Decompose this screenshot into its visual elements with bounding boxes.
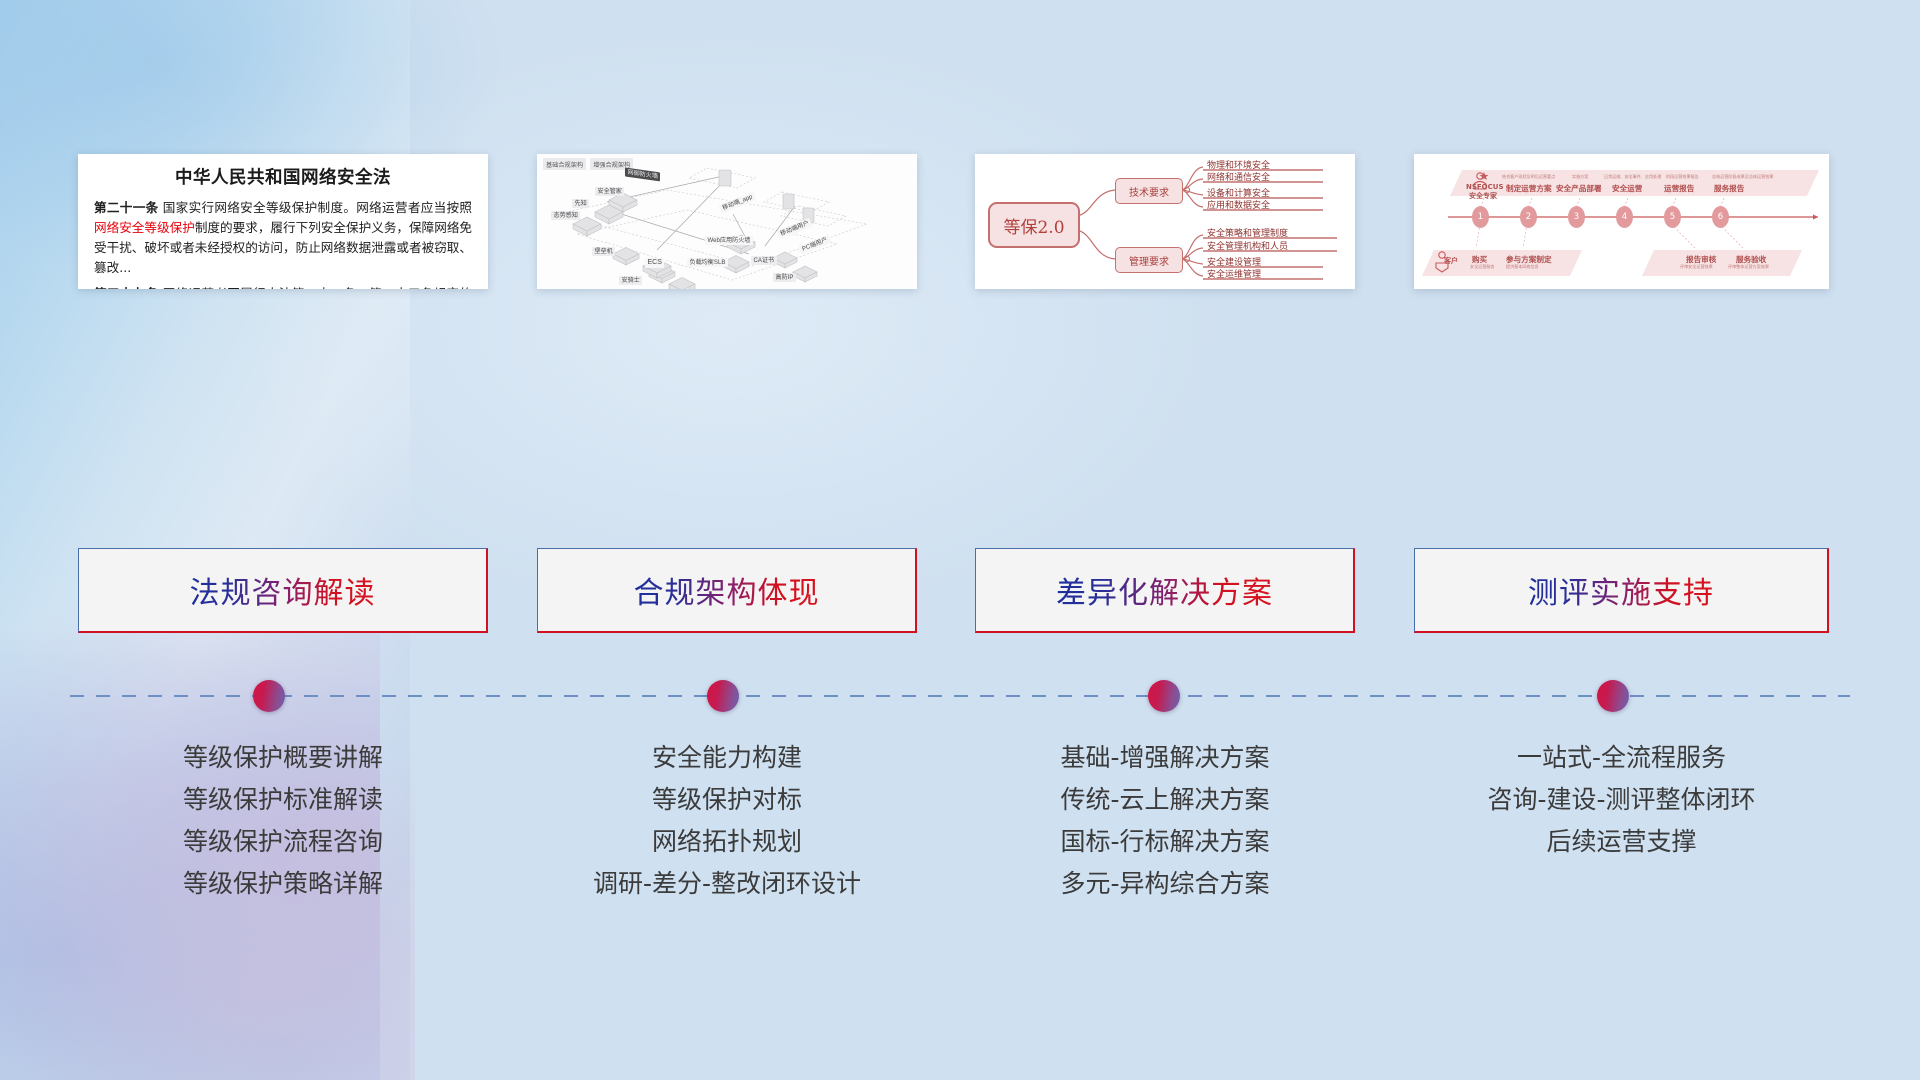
mindmap-leaf: 安全管理机构和人员 (1207, 239, 1288, 252)
arch-node-slb: 负载均衡SLB (687, 258, 728, 267)
timeline-dashed-line (70, 695, 1850, 697)
list-regulation-consulting: 等级保护概要讲解 等级保护标准解读 等级保护流程咨询 等级保护策略详解 (78, 737, 488, 905)
title-text: 合规架构体现 (634, 568, 820, 612)
list-item: 网络拓扑规划 (537, 821, 917, 863)
roadmap-canvas: NSFOCUS 安全专家 客户 结合客户现状及明后运营要点 制定运营方案 实施方… (1414, 154, 1829, 289)
arch-node-situational-awareness: 态势感知 (551, 211, 580, 220)
arch-node-xianzhi: 先知 (572, 199, 589, 208)
roadmap-bottom-note: 评审整体运营方案效果 (1728, 264, 1769, 270)
roadmap-bottom-note: 安全运营服务 (1470, 264, 1495, 270)
title-box-evaluation-support[interactable]: 测评实施支持 (1414, 548, 1829, 633)
title-text: 差异化解决方案 (1056, 568, 1273, 612)
roadmap-step-number: 6 (1712, 206, 1729, 228)
list-item: 咨询-建设-测评整体闭环 (1414, 779, 1829, 821)
roadmap-top-note: 实施方案 (1572, 174, 1588, 180)
law-article-label: 第二十一条 (94, 200, 158, 215)
thumbnail-architecture-diagram[interactable]: 基础合规架构 增强合规架构 (537, 154, 917, 289)
arch-node-ecs: ECS (645, 258, 664, 268)
arch-node-anti-ddos-ip: 高防IP (773, 273, 796, 282)
thumbnail-law-text[interactable]: 中华人民共和国网络安全法 第二十一条 国家实行网络安全等级保护制度。网络运营者应… (78, 154, 488, 289)
law-text: 国家实行网络安全等级保护制度。网络运营者应当按照 (158, 200, 472, 215)
architecture-canvas: 基础合规架构 增强合规架构 (537, 154, 917, 289)
timeline-dot (1148, 680, 1180, 712)
roadmap-customer-title: 客户 (1444, 256, 1458, 266)
roadmap-bottom-note: 评审安全运营效果 (1680, 264, 1713, 270)
list-item: 多元-异构综合方案 (975, 863, 1355, 905)
timeline-dot (707, 680, 739, 712)
roadmap-step-number: 2 (1520, 206, 1537, 228)
arch-node-security-butler: 安全管家 (595, 187, 624, 196)
mindmap-leaf: 应用和数据安全 (1207, 198, 1270, 211)
list-item: 后续运营支撑 (1414, 821, 1829, 863)
arch-node-anqishi: 安骑士 (619, 276, 642, 285)
architecture-lines (537, 154, 917, 289)
list-item: 调研-差分-整改闭环设计 (537, 863, 917, 905)
title-box-compliance-architecture[interactable]: 合规架构体现 (537, 548, 917, 633)
title-box-differentiated-solution[interactable]: 差异化解决方案 (975, 548, 1355, 633)
roadmap-bottom-note: 提供基本网络信息 (1506, 264, 1539, 270)
mindmap-leaf: 网络和通信安全 (1207, 170, 1270, 183)
roadmap-step-number: 4 (1616, 206, 1633, 228)
mindmap-leaf: 安全策略和管理制度 (1207, 226, 1288, 239)
roadmap-step-number: 5 (1664, 206, 1681, 228)
title-text: 测评实施支持 (1528, 568, 1714, 612)
arch-node-waf: Web应用防火墙 (705, 236, 753, 245)
law-paragraph: 第二十一条 国家实行网络安全等级保护制度。网络运营者应当按照网络安全等级保护制度… (94, 198, 472, 278)
mindmap-root: 等保2.0 (988, 202, 1080, 248)
arch-node-ca-certificate: CA证书 (751, 256, 777, 265)
mindmap-branch-management: 管理要求 (1115, 247, 1183, 273)
list-item: 等级保护概要讲解 (78, 737, 488, 779)
title-text: 法规咨询解读 (190, 568, 376, 612)
roadmap-top-label: 运营报告 (1664, 183, 1694, 194)
list-item: 传统-云上解决方案 (975, 779, 1355, 821)
roadmap-actor-subtitle: 安全专家 (1469, 191, 1497, 201)
roadmap-top-note: 结合客户现状及明后运营要点 (1502, 174, 1555, 180)
roadmap-actor-title: NSFOCUS (1466, 183, 1504, 191)
law-title: 中华人民共和国网络安全法 (94, 164, 472, 189)
mindmap-branch-technical: 技术要求 (1115, 178, 1183, 204)
mindmap-canvas: 等保2.0 技术要求 管理要求 物理和环境安全 网络和通信安全 设备和计算安全 … (975, 154, 1355, 289)
title-box-regulation-consulting[interactable]: 法规咨询解读 (78, 548, 488, 633)
law-article-label: 第五十九条 (94, 286, 158, 289)
list-evaluation-support: 一站式-全流程服务 咨询-建设-测评整体闭环 后续运营支撑 (1414, 737, 1829, 863)
thumbnail-mindmap[interactable]: 等保2.0 技术要求 管理要求 物理和环境安全 网络和通信安全 设备和计算安全 … (975, 154, 1355, 289)
mindmap-leaf: 安全运维管理 (1207, 267, 1261, 280)
list-differentiated-solution: 基础-增强解决方案 传统-云上解决方案 国标-行标解决方案 多元-异构综合方案 (975, 737, 1355, 905)
list-item: 等级保护对标 (537, 779, 917, 821)
list-item: 等级保护流程咨询 (78, 821, 488, 863)
list-item: 国标-行标解决方案 (975, 821, 1355, 863)
list-item: 一站式-全流程服务 (1414, 737, 1829, 779)
roadmap-top-label: 安全产品部署 (1556, 183, 1602, 194)
timeline-dot (253, 680, 285, 712)
roadmap-step-number: 1 (1472, 206, 1489, 228)
law-highlight: 网络安全等级保护 (94, 220, 195, 235)
list-item: 等级保护策略详解 (78, 863, 488, 905)
roadmap-top-note: 总结运营阶段成果及总体运营效果 (1712, 174, 1773, 180)
list-compliance-architecture: 安全能力构建 等级保护对标 网络拓扑规划 调研-差分-整改闭环设计 (537, 737, 917, 905)
law-paragraph: 第五十九条 网络运营者不履行本法第二十一条、第二十五条规定的网络安全保护义务的，… (94, 284, 472, 289)
timeline-dot (1597, 680, 1629, 712)
roadmap-top-label: 制定运营方案 (1506, 183, 1552, 194)
roadmap-top-note: 日常运维、安全事件、应用处理 (1604, 174, 1661, 180)
law-card: 中华人民共和国网络安全法 第二十一条 国家实行网络安全等级保护制度。网络运营者应… (78, 154, 488, 289)
roadmap-top-label: 安全运营 (1612, 183, 1642, 194)
roadmap-top-note: 阶段运营效果报告 (1666, 174, 1699, 180)
list-item: 安全能力构建 (537, 737, 917, 779)
thumbnail-roadmap[interactable]: NSFOCUS 安全专家 客户 结合客户现状及明后运营要点 制定运营方案 实施方… (1414, 154, 1829, 289)
list-item: 等级保护标准解读 (78, 779, 488, 821)
list-item: 基础-增强解决方案 (975, 737, 1355, 779)
roadmap-step-number: 3 (1568, 206, 1585, 228)
arch-node-bastion-host: 堡垒机 (592, 247, 615, 256)
roadmap-top-label: 服务报告 (1714, 183, 1744, 194)
